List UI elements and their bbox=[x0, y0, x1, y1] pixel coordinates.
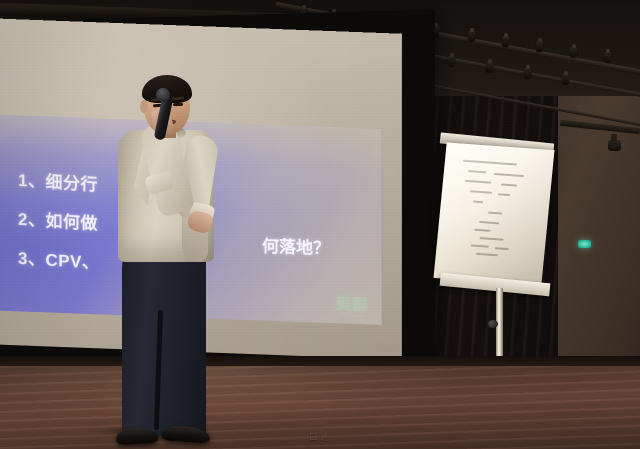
stage-light-icon bbox=[502, 36, 509, 47]
stage-light-icon bbox=[570, 47, 577, 58]
slide-bullet-list: 1、细分行 2、如何做 3、CPV、 bbox=[18, 166, 99, 288]
stage-photo-scene: projector 议题 1、细分行 2、如何做 3、CPV、 吴群 WU QU… bbox=[0, 0, 640, 449]
speaker-ear bbox=[140, 100, 148, 113]
flipchart-handwriting bbox=[450, 157, 542, 262]
slide-trailing-text: 何落地？ bbox=[262, 232, 330, 259]
slide-logo: 吴群 WU QUN bbox=[336, 296, 368, 318]
wall-spotlight-icon bbox=[608, 140, 621, 151]
slide-bullet-item: 3、CPV、 bbox=[18, 244, 99, 274]
speaker-eyebrow bbox=[172, 97, 184, 101]
speaker-eye bbox=[173, 103, 183, 106]
flipchart-board bbox=[433, 142, 554, 285]
speaker-trousers bbox=[122, 246, 206, 436]
flipchart-height-knob[interactable] bbox=[488, 320, 498, 328]
stage-light-icon bbox=[468, 31, 475, 42]
emergency-exit-light-icon bbox=[578, 240, 591, 248]
slide-bullet-item: 2、如何做 bbox=[18, 205, 99, 235]
stage-light-icon bbox=[562, 74, 569, 85]
stage-light-icon bbox=[536, 41, 543, 52]
slide-bullet-item: 1、细分行 bbox=[18, 166, 99, 196]
stage-light-icon bbox=[448, 56, 455, 67]
slide-logo-mark: 吴群 bbox=[336, 296, 368, 313]
image-watermark: 口述 bbox=[0, 430, 640, 443]
speaker bbox=[104, 78, 244, 438]
stage-light-icon bbox=[524, 68, 531, 79]
stage-light-icon bbox=[486, 62, 493, 73]
stage-light-icon bbox=[604, 52, 611, 63]
